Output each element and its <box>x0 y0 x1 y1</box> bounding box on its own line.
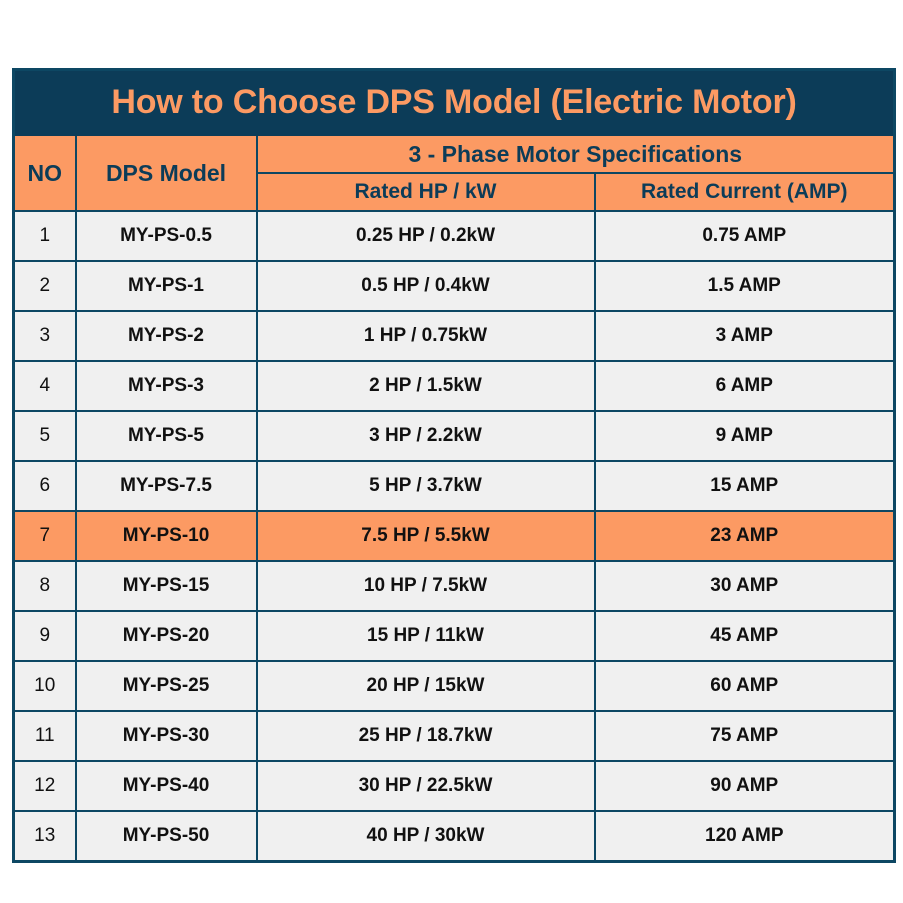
cell-rated-current: 15 AMP <box>595 461 895 511</box>
cell-dps-model: MY-PS-5 <box>76 411 257 461</box>
table-row[interactable]: 11MY-PS-3025 HP / 18.7kW75 AMP <box>14 711 895 761</box>
title-row: How to Choose DPS Model (Electric Motor) <box>14 70 895 136</box>
cell-rated-hp-kw: 5 HP / 3.7kW <box>257 461 595 511</box>
spec-table-container: How to Choose DPS Model (Electric Motor)… <box>12 68 893 863</box>
table-row[interactable]: 13MY-PS-5040 HP / 30kW120 AMP <box>14 811 895 862</box>
table-row[interactable]: 2MY-PS-10.5 HP / 0.4kW1.5 AMP <box>14 261 895 311</box>
cell-rated-hp-kw: 1 HP / 0.75kW <box>257 311 595 361</box>
cell-rated-current: 6 AMP <box>595 361 895 411</box>
header-row-primary: NO DPS Model 3 - Phase Motor Specificati… <box>14 135 895 173</box>
cell-dps-model: MY-PS-20 <box>76 611 257 661</box>
page-canvas: How to Choose DPS Model (Electric Motor)… <box>0 0 903 903</box>
cell-no: 11 <box>14 711 76 761</box>
cell-dps-model: MY-PS-0.5 <box>76 211 257 261</box>
table-body: 1MY-PS-0.50.25 HP / 0.2kW0.75 AMP2MY-PS-… <box>14 211 895 862</box>
table-row[interactable]: 3MY-PS-21 HP / 0.75kW3 AMP <box>14 311 895 361</box>
cell-no: 13 <box>14 811 76 862</box>
column-group-header-3-phase-motor-specifications: 3 - Phase Motor Specifications <box>257 135 895 173</box>
cell-dps-model: MY-PS-15 <box>76 561 257 611</box>
table-row[interactable]: 12MY-PS-4030 HP / 22.5kW90 AMP <box>14 761 895 811</box>
column-header-rated-hp-kw: Rated HP / kW <box>257 173 595 211</box>
cell-no: 5 <box>14 411 76 461</box>
cell-rated-hp-kw: 10 HP / 7.5kW <box>257 561 595 611</box>
cell-rated-current: 9 AMP <box>595 411 895 461</box>
table-row[interactable]: 5MY-PS-53 HP / 2.2kW9 AMP <box>14 411 895 461</box>
cell-dps-model: MY-PS-50 <box>76 811 257 862</box>
dps-model-selection-table: How to Choose DPS Model (Electric Motor)… <box>12 68 896 863</box>
cell-rated-current: 23 AMP <box>595 511 895 561</box>
table-row[interactable]: 7MY-PS-107.5 HP / 5.5kW23 AMP <box>14 511 895 561</box>
cell-rated-hp-kw: 0.5 HP / 0.4kW <box>257 261 595 311</box>
cell-rated-current: 1.5 AMP <box>595 261 895 311</box>
column-header-rated-current: Rated Current (AMP) <box>595 173 895 211</box>
cell-rated-current: 75 AMP <box>595 711 895 761</box>
cell-rated-current: 90 AMP <box>595 761 895 811</box>
table-row[interactable]: 4MY-PS-32 HP / 1.5kW6 AMP <box>14 361 895 411</box>
cell-rated-current: 30 AMP <box>595 561 895 611</box>
cell-dps-model: MY-PS-1 <box>76 261 257 311</box>
table-row[interactable]: 8MY-PS-1510 HP / 7.5kW30 AMP <box>14 561 895 611</box>
cell-rated-hp-kw: 30 HP / 22.5kW <box>257 761 595 811</box>
cell-no: 2 <box>14 261 76 311</box>
table-row[interactable]: 6MY-PS-7.55 HP / 3.7kW15 AMP <box>14 461 895 511</box>
cell-no: 3 <box>14 311 76 361</box>
cell-no: 4 <box>14 361 76 411</box>
cell-rated-hp-kw: 15 HP / 11kW <box>257 611 595 661</box>
cell-rated-current: 60 AMP <box>595 661 895 711</box>
cell-rated-current: 3 AMP <box>595 311 895 361</box>
table-row[interactable]: 10MY-PS-2520 HP / 15kW60 AMP <box>14 661 895 711</box>
cell-no: 9 <box>14 611 76 661</box>
cell-dps-model: MY-PS-2 <box>76 311 257 361</box>
cell-no: 10 <box>14 661 76 711</box>
cell-dps-model: MY-PS-30 <box>76 711 257 761</box>
page-title: How to Choose DPS Model (Electric Motor) <box>14 70 895 136</box>
cell-no: 6 <box>14 461 76 511</box>
column-header-no: NO <box>14 135 76 211</box>
cell-rated-current: 120 AMP <box>595 811 895 862</box>
cell-rated-hp-kw: 0.25 HP / 0.2kW <box>257 211 595 261</box>
table-row[interactable]: 9MY-PS-2015 HP / 11kW45 AMP <box>14 611 895 661</box>
cell-no: 8 <box>14 561 76 611</box>
cell-rated-hp-kw: 7.5 HP / 5.5kW <box>257 511 595 561</box>
cell-dps-model: MY-PS-25 <box>76 661 257 711</box>
cell-rated-hp-kw: 40 HP / 30kW <box>257 811 595 862</box>
cell-no: 7 <box>14 511 76 561</box>
cell-no: 12 <box>14 761 76 811</box>
cell-dps-model: MY-PS-40 <box>76 761 257 811</box>
cell-rated-current: 45 AMP <box>595 611 895 661</box>
cell-rated-hp-kw: 3 HP / 2.2kW <box>257 411 595 461</box>
table-row[interactable]: 1MY-PS-0.50.25 HP / 0.2kW0.75 AMP <box>14 211 895 261</box>
cell-rated-hp-kw: 2 HP / 1.5kW <box>257 361 595 411</box>
cell-rated-current: 0.75 AMP <box>595 211 895 261</box>
table-header: How to Choose DPS Model (Electric Motor)… <box>14 70 895 212</box>
column-header-dps-model: DPS Model <box>76 135 257 211</box>
cell-rated-hp-kw: 25 HP / 18.7kW <box>257 711 595 761</box>
cell-dps-model: MY-PS-10 <box>76 511 257 561</box>
cell-dps-model: MY-PS-3 <box>76 361 257 411</box>
cell-dps-model: MY-PS-7.5 <box>76 461 257 511</box>
cell-rated-hp-kw: 20 HP / 15kW <box>257 661 595 711</box>
cell-no: 1 <box>14 211 76 261</box>
